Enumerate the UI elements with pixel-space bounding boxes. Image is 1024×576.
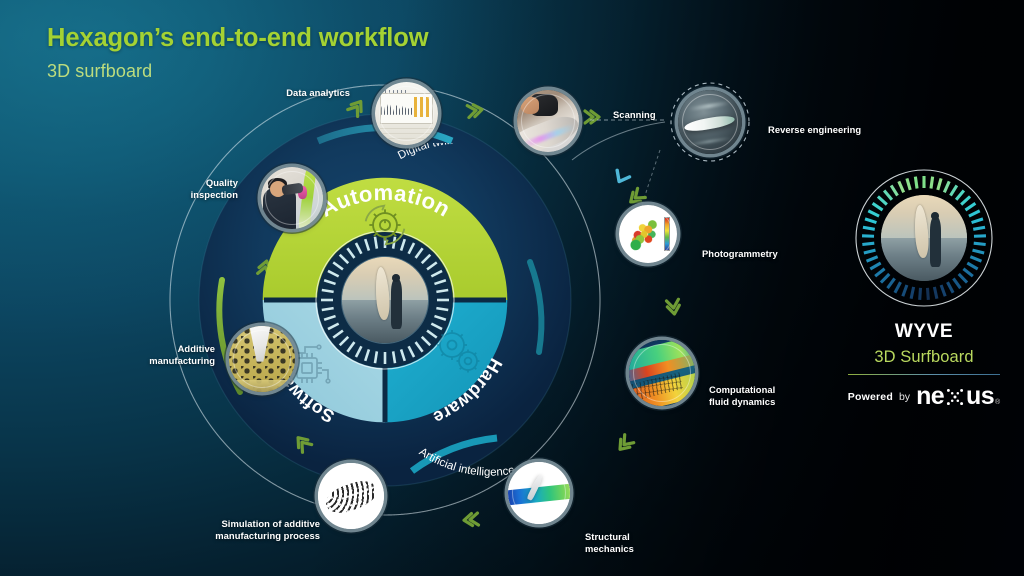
node-additive-manufacturing[interactable] xyxy=(229,326,295,392)
node-structural-mechanics-label: Structural mechanics xyxy=(585,531,705,556)
nexus-x-dots-icon xyxy=(945,387,965,407)
node-quality-inspection-image xyxy=(261,167,323,229)
page-title: Hexagon’s end-to-end workflow xyxy=(47,24,429,53)
node-data-analytics-image xyxy=(375,82,438,145)
nexus-logo-right: us xyxy=(966,384,994,409)
node-reverse-engineering-dashed-halo xyxy=(668,80,752,164)
photo-surfer xyxy=(391,278,402,330)
powered-by-block: Powered by ne us ® xyxy=(836,384,1012,409)
node-simulation-of-additive-manufacturing-process[interactable] xyxy=(318,463,384,529)
nexus-logo-left: ne xyxy=(916,384,944,409)
slide-canvas: Hexagon’s end-to-end workflow 3D surfboa… xyxy=(0,0,1024,576)
node-reverse-engineering[interactable] xyxy=(678,90,742,154)
node-scanning[interactable] xyxy=(517,90,579,152)
node-structural-mechanics-image xyxy=(508,462,570,524)
brand-divider xyxy=(848,374,1000,375)
node-quality-inspection[interactable] xyxy=(261,167,323,229)
powered-by-label: by xyxy=(899,391,910,403)
photo-surfer-head xyxy=(392,274,400,282)
powered-label: Powered xyxy=(848,391,893,403)
hub-center-photo xyxy=(342,257,428,343)
brand-photo-surfer xyxy=(930,216,941,268)
node-scanning-image xyxy=(517,90,579,152)
node-computational-fluid-dynamics[interactable] xyxy=(629,340,695,406)
node-additive-manufacturing-image xyxy=(229,326,295,392)
nexus-registered-mark: ® xyxy=(995,399,1000,406)
node-data-analytics[interactable] xyxy=(375,82,438,145)
brand-photo-surfer-head xyxy=(931,212,939,220)
node-computational-fluid-dynamics-image xyxy=(629,340,695,406)
brand-dial xyxy=(854,168,994,308)
brand-panel: WYVE 3D Surfboard Powered by ne xyxy=(836,168,1012,409)
title-block: Hexagon’s end-to-end workflow 3D surfboa… xyxy=(47,24,429,82)
brand-name: WYVE xyxy=(836,321,1012,343)
node-quality-inspection-label: Quality inspection xyxy=(130,177,238,202)
node-photogrammetry-label: Photogrammetry xyxy=(702,248,812,260)
node-simulation-image xyxy=(318,463,384,529)
node-computational-fluid-dynamics-label: Computational fluid dynamics xyxy=(709,384,829,409)
brand-product: 3D Surfboard xyxy=(836,348,1012,367)
node-photogrammetry[interactable] xyxy=(619,205,677,263)
node-simulation-of-additive-manufacturing-process-label: Simulation of additive manufacturing pro… xyxy=(165,518,320,543)
node-data-analytics-label: Data analytics xyxy=(200,87,350,99)
page-subtitle: 3D surfboard xyxy=(47,61,429,82)
node-reverse-engineering-label: Reverse engineering xyxy=(768,124,898,136)
brand-center-photo xyxy=(881,195,967,281)
node-photogrammetry-image xyxy=(619,205,677,263)
nexus-logo: ne us ® xyxy=(916,384,1000,409)
node-additive-manufacturing-label: Additive manufacturing xyxy=(95,343,215,368)
node-structural-mechanics[interactable] xyxy=(508,462,570,524)
